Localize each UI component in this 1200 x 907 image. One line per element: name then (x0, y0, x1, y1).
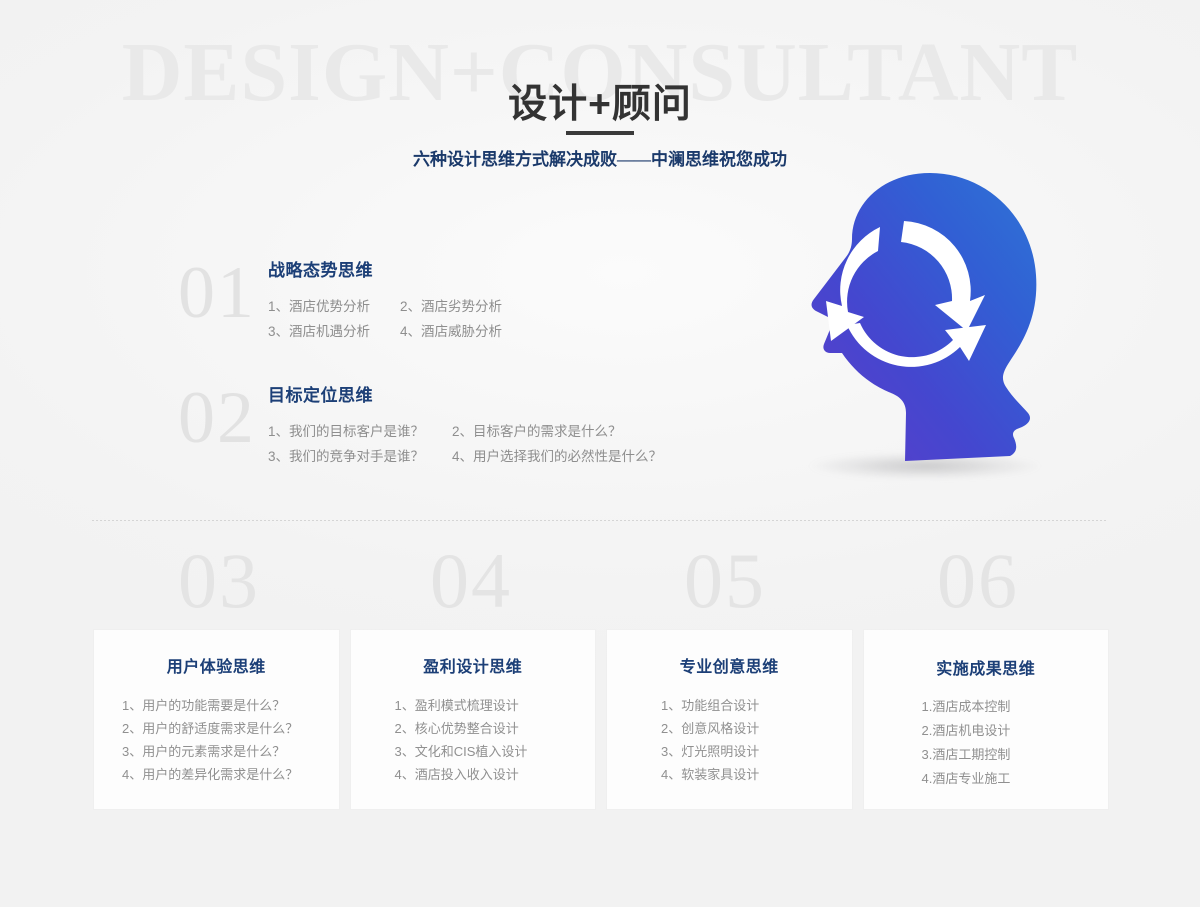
block-number-02: 02 (178, 381, 256, 455)
thinking-block-02-row: 3、我们的竞争对手是谁？4、用户选择我们的必然性是什么？ (268, 444, 636, 469)
thinking-card-06[interactable]: 实施成果思维 1.酒店成本控制 2.酒店机电设计 3.酒店工期控制 4.酒店专业… (864, 630, 1109, 809)
thinking-block-01-row: 1、酒店优势分析2、酒店劣势分析 (268, 294, 532, 319)
thinking-card-06-list: 1.酒店成本控制 2.酒店机电设计 3.酒店工期控制 4.酒店专业施工 (864, 695, 1109, 791)
list-item: 3、我们的竞争对手是谁？ (268, 444, 452, 469)
list-item: 1、用户的功能需要是什么？ (122, 694, 339, 717)
list-item: 3、灯光照明设计 (661, 740, 852, 763)
card-number-03: 03 (178, 541, 260, 621)
card-number-05: 05 (684, 541, 766, 621)
card-number-06: 06 (937, 541, 1019, 621)
list-item: 4、用户选择我们的必然性是什么？ (452, 444, 636, 469)
thinking-block-01-row: 3、酒店机遇分析4、酒店威胁分析 (268, 319, 532, 344)
head-with-cycle-arrows-icon (770, 165, 1070, 465)
list-item: 1、盈利模式梳理设计 (395, 694, 596, 717)
list-item: 3、文化和CIS植入设计 (395, 740, 596, 763)
thinking-block-02-title: 目标定位思维 (268, 385, 636, 407)
block-number-01: 01 (178, 256, 256, 330)
list-item: 3、用户的元素需求是什么？ (122, 740, 339, 763)
thinking-card-04[interactable]: 盈利设计思维 1、盈利模式梳理设计 2、核心优势整合设计 3、文化和CIS植入设… (351, 630, 596, 809)
cards-row: 用户体验思维 1、用户的功能需要是什么？ 2、用户的舒适度需求是什么？ 3、用户… (94, 630, 1108, 809)
card-number-04: 04 (430, 541, 512, 621)
list-item: 1、我们的目标客户是谁？ (268, 419, 452, 444)
list-item: 3.酒店工期控制 (922, 743, 1109, 767)
list-item: 2、目标客户的需求是什么？ (452, 419, 636, 444)
list-item: 2、酒店劣势分析 (400, 294, 532, 319)
thinking-card-05-list: 1、功能组合设计 2、创意风格设计 3、灯光照明设计 4、软装家具设计 (607, 694, 852, 786)
thinking-block-02-row: 1、我们的目标客户是谁？2、目标客户的需求是什么？ (268, 419, 636, 444)
list-item: 3、酒店机遇分析 (268, 319, 400, 344)
thinking-card-05-title: 专业创意思维 (607, 630, 852, 678)
thinking-card-06-title: 实施成果思维 (864, 630, 1109, 680)
thinking-card-03[interactable]: 用户体验思维 1、用户的功能需要是什么？ 2、用户的舒适度需求是什么？ 3、用户… (94, 630, 339, 809)
list-item: 1、酒店优势分析 (268, 294, 400, 319)
thinking-card-05[interactable]: 专业创意思维 1、功能组合设计 2、创意风格设计 3、灯光照明设计 4、软装家具… (607, 630, 852, 809)
page-stage: DESIGN+CONSULTANT 设计+顾问 六种设计思维方式解决成败——中澜… (0, 0, 1200, 907)
page-title: 设计+顾问 (0, 81, 1200, 129)
thinking-card-03-title: 用户体验思维 (94, 630, 339, 678)
list-item: 2、核心优势整合设计 (395, 717, 596, 740)
list-item: 2.酒店机电设计 (922, 719, 1109, 743)
head-illustration (770, 165, 1070, 500)
list-item: 4.酒店专业施工 (922, 767, 1109, 791)
list-item: 1、功能组合设计 (661, 694, 852, 717)
list-item: 4、酒店威胁分析 (400, 319, 532, 344)
thinking-card-04-title: 盈利设计思维 (351, 630, 596, 678)
list-item: 4、软装家具设计 (661, 763, 852, 786)
title-underline-rule (566, 131, 634, 135)
thinking-card-04-list: 1、盈利模式梳理设计 2、核心优势整合设计 3、文化和CIS植入设计 4、酒店投… (351, 694, 596, 786)
thinking-block-01-title: 战略态势思维 (268, 260, 532, 282)
thinking-block-02: 目标定位思维 1、我们的目标客户是谁？2、目标客户的需求是什么？ 3、我们的竞争… (268, 385, 636, 469)
list-item: 2、创意风格设计 (661, 717, 852, 740)
thinking-block-01: 战略态势思维 1、酒店优势分析2、酒店劣势分析 3、酒店机遇分析4、酒店威胁分析 (268, 260, 532, 344)
list-item: 1.酒店成本控制 (922, 695, 1109, 719)
list-item: 2、用户的舒适度需求是什么？ (122, 717, 339, 740)
list-item: 4、酒店投入收入设计 (395, 763, 596, 786)
list-item: 4、用户的差异化需求是什么？ (122, 763, 339, 786)
thinking-card-03-list: 1、用户的功能需要是什么？ 2、用户的舒适度需求是什么？ 3、用户的元素需求是什… (94, 694, 339, 786)
section-divider (92, 520, 1108, 521)
